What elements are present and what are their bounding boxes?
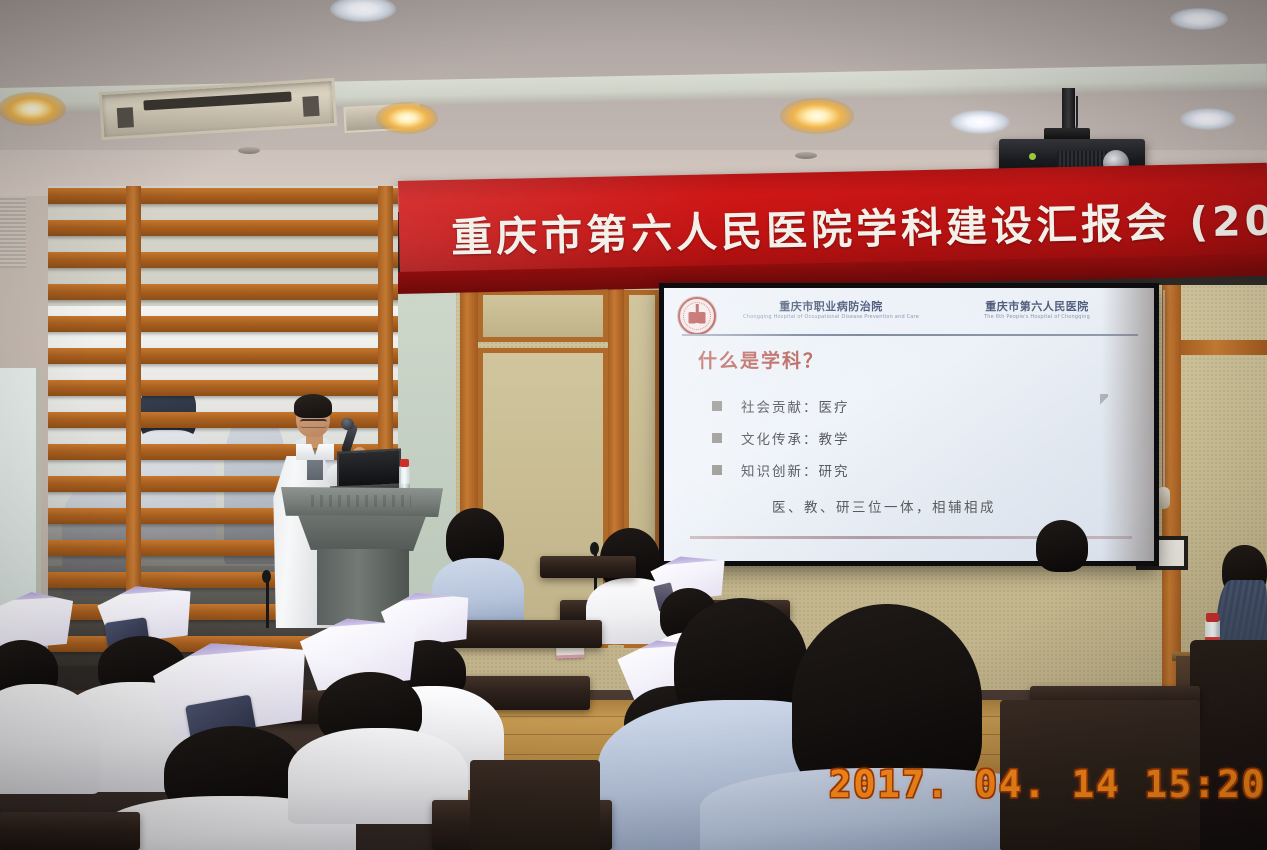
wall-acoustic-panel xyxy=(478,290,608,342)
wood-slat xyxy=(48,348,398,364)
projection-screen: 重庆市职业病防治院 Chongqing Hospital of Occupati… xyxy=(664,288,1154,561)
lectern-middle xyxy=(298,515,426,551)
projector-status-led xyxy=(1029,153,1036,160)
slide-title: 什么是学科？ xyxy=(698,346,824,373)
water-bottle-cap xyxy=(400,459,409,467)
slide-header-divider xyxy=(682,334,1138,336)
wood-slat xyxy=(48,188,398,204)
seated-attendee-body xyxy=(0,684,100,794)
vent-louver-right xyxy=(303,96,320,116)
hospital-seal-logo xyxy=(678,297,716,335)
vent-louver-left xyxy=(117,107,134,127)
auditorium-chair xyxy=(1190,640,1267,850)
screen-shadow xyxy=(1102,288,1154,561)
slide-header-left-en: Chongqing Hospital of Occupational Disea… xyxy=(726,315,936,320)
mouse-cursor-icon xyxy=(1100,394,1108,405)
wood-slat xyxy=(48,316,398,332)
laptop-screen[interactable] xyxy=(337,448,401,488)
slide-header-right-en: The 6th People's Hospital of Chongqing xyxy=(942,315,1132,320)
wood-slat xyxy=(48,284,398,300)
seated-attendee-head xyxy=(1036,520,1088,572)
ceiling-downlight-cool xyxy=(1180,108,1236,130)
slide-header-right-org: 重庆市第六人民医院 The 6th People's Hospital of C… xyxy=(942,301,1132,320)
slide-conclusion-text: 医、教、研三位一体，相辅相成 xyxy=(772,496,996,516)
wall-trim-horizontal xyxy=(1181,340,1267,355)
slide-header-left-org: 重庆市职业病防治院 Chongqing Hospital of Occupati… xyxy=(726,301,936,320)
ceiling-downlight-warm xyxy=(0,92,66,126)
wood-slat xyxy=(48,252,398,268)
bench-row xyxy=(0,812,140,850)
glasses-icon xyxy=(300,419,327,428)
ceiling-downlight-warm xyxy=(780,98,854,134)
slide-header-right-cn: 重庆市第六人民医院 xyxy=(942,301,1132,313)
list-item: 社会贡献：医疗 xyxy=(712,396,850,416)
list-item: 文化传承：教学 xyxy=(712,428,850,448)
water-bottle-cap xyxy=(1206,613,1219,622)
bullet-square-icon xyxy=(712,401,722,411)
smoke-detector xyxy=(795,152,817,159)
lectern-top xyxy=(281,487,443,517)
bullet-text: 文化传承：教学 xyxy=(741,428,850,448)
wood-slat xyxy=(48,220,398,236)
microphone-head xyxy=(262,570,271,583)
wood-slat xyxy=(48,380,398,396)
bullet-square-icon xyxy=(712,433,722,443)
ceiling-downlight-warm xyxy=(376,102,438,134)
smoke-detector xyxy=(238,147,260,154)
bullet-text: 知识创新：研究 xyxy=(741,460,850,480)
ceiling-downlight-cool xyxy=(1170,8,1228,30)
wall-speaker-grille xyxy=(0,196,26,268)
slide-bullet-list: 社会贡献：医疗 文化传承：教学 知识创新：研究 xyxy=(712,396,850,492)
screen-pull-cord[interactable] xyxy=(1163,290,1165,490)
bench-row xyxy=(540,556,636,578)
conference-photo: 重庆市第六人民医院学科建设汇报会 (2017年第 重庆市职业病防治院 Chong… xyxy=(0,0,1267,850)
projection-screen-frame: 重庆市职业病防治院 Chongqing Hospital of Occupati… xyxy=(659,283,1159,566)
lectern-emblem xyxy=(311,495,411,507)
bullet-text: 社会贡献：医疗 xyxy=(741,396,850,416)
gooseneck-microphone[interactable] xyxy=(266,576,269,628)
microphone-head xyxy=(590,542,599,555)
bullet-square-icon xyxy=(712,465,722,475)
logo-lungs-icon xyxy=(689,309,706,325)
ceiling-downlight-cool xyxy=(950,110,1010,134)
slide-header-left-cn: 重庆市职业病防治院 xyxy=(726,301,936,313)
auditorium-chair xyxy=(470,760,600,850)
vent-slot xyxy=(144,92,292,111)
speaker-hair xyxy=(294,394,332,418)
camera-timestamp: 2017. 04. 14 15:20 xyxy=(829,763,1266,806)
list-item: 知识创新：研究 xyxy=(712,460,850,480)
